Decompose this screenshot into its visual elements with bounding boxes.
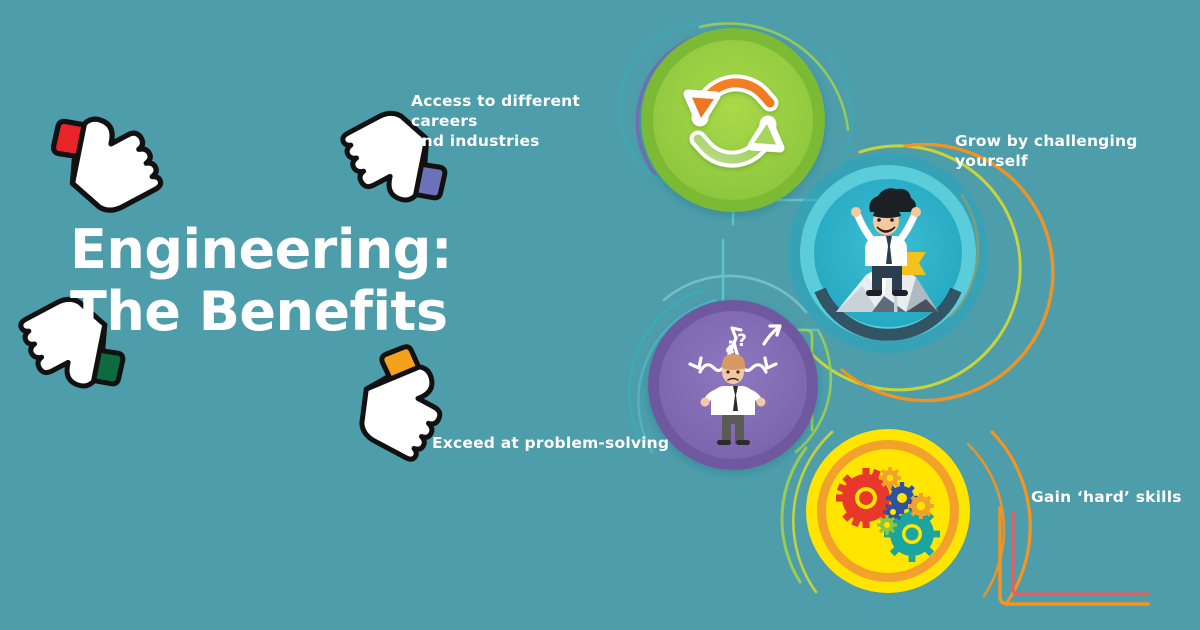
node-careers[interactable] [641,28,825,212]
label-grow-challenging: Grow by challenging yourself [955,131,1200,171]
infographic-poster: ¿ ? [0,0,1200,630]
node-skills[interactable] [806,429,970,593]
node-grow[interactable] [788,153,988,353]
svg-text:?: ? [737,331,747,351]
page-title: Engineering: The Benefits [70,219,490,343]
label-exceed-problem-solving: Exceed at problem-solving [432,433,692,453]
label-gain-hard-skills: Gain ‘hard’ skills [1031,487,1200,507]
thumb-red [44,92,166,222]
label-access-careers: Access to different careers and industri… [411,91,651,151]
svg-text:¿: ¿ [725,335,735,355]
